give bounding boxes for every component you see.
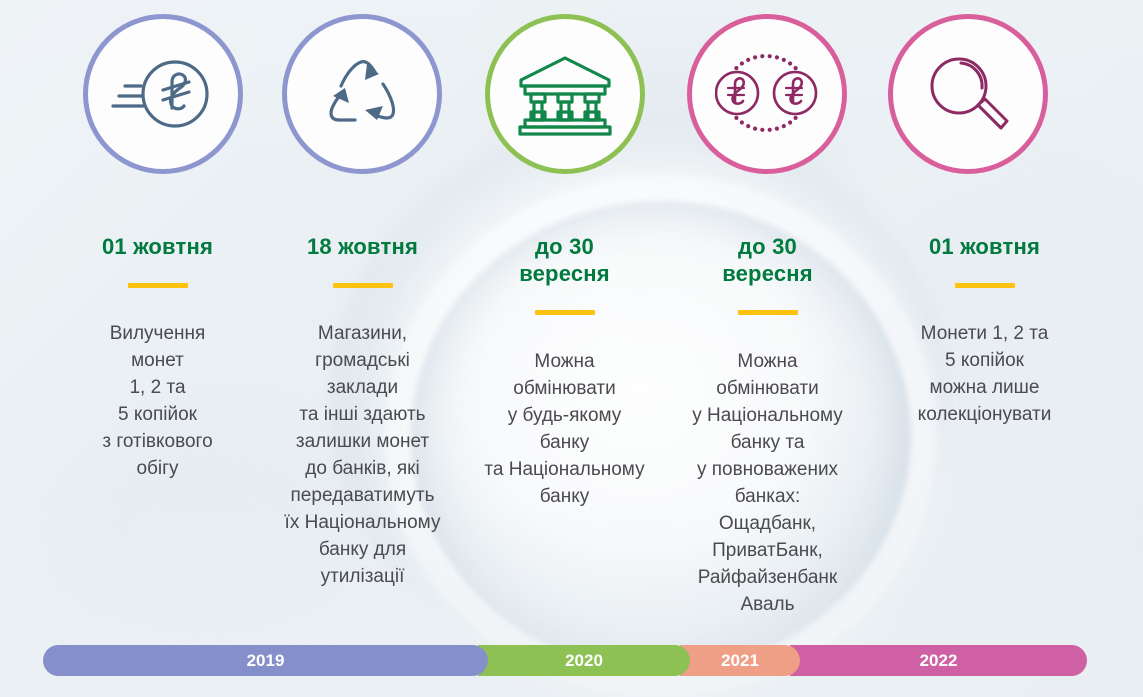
column-body-5: Монети 1, 2 та5 копійокможна лишеколекці… — [832, 320, 1137, 428]
two-coins-exchange-icon — [715, 47, 819, 141]
timeline-segment-2021[interactable]: 2021 — [680, 645, 800, 676]
column-divider-rule — [535, 310, 595, 315]
timeline-segment-2022[interactable]: 2022 — [790, 645, 1087, 676]
magnifier-search-icon — [923, 50, 1013, 138]
recycle-arrows-icon — [315, 50, 409, 138]
timeline-segment-label: 2022 — [920, 651, 958, 671]
timeline-segment-label: 2021 — [721, 651, 759, 671]
column-body-line: колекціонувати — [832, 401, 1137, 428]
icon-circle-5 — [888, 14, 1048, 174]
column-body-line: 5 копійок — [832, 347, 1137, 374]
icon-circle-4 — [687, 14, 847, 174]
timeline-segment-label: 2020 — [565, 651, 603, 671]
column-body-line: Монети 1, 2 та — [832, 320, 1137, 347]
timeline-segment-2020[interactable]: 2020 — [478, 645, 690, 676]
column-divider-rule — [333, 283, 393, 288]
timeline-columns: 01 жовтняВилученнямонет1, 2 та5 копійокз… — [0, 0, 1143, 697]
timeline-segment-label: 2019 — [247, 651, 285, 671]
column-divider-rule — [738, 310, 798, 315]
timeline-segment-2019[interactable]: 2019 — [43, 645, 488, 676]
infographic-canvas: 01 жовтняВилученнямонет1, 2 та5 копійокз… — [0, 0, 1143, 697]
bank-building-icon — [515, 52, 615, 136]
column-divider-rule — [128, 283, 188, 288]
column-date-5: 01 жовтня — [832, 233, 1137, 260]
column-divider-rule — [955, 283, 1015, 288]
column-body-line: можна лише — [832, 374, 1137, 401]
year-timeline-bar: 2019202020212022 — [43, 645, 1087, 676]
timeline-column-5: 01 жовтняМонети 1, 2 та5 копійокможна ли… — [832, 0, 1137, 697]
